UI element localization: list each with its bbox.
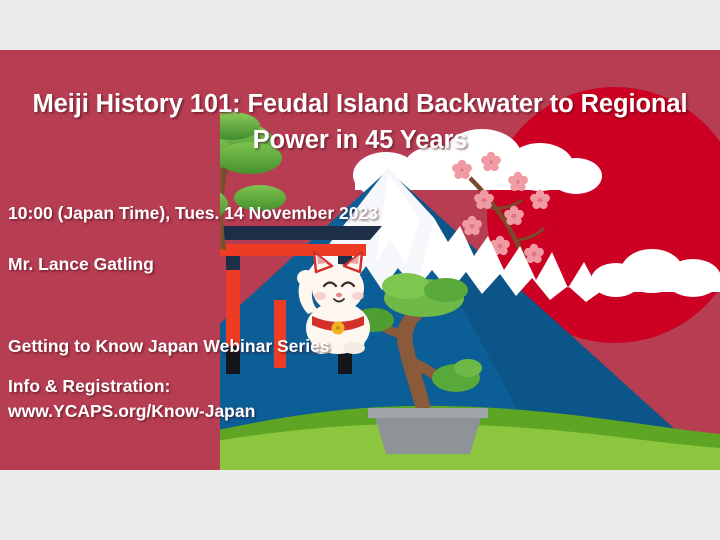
letterbox-top — [0, 0, 720, 50]
slide-canvas: Meiji History 101: Feudal Island Backwat… — [0, 0, 720, 540]
registration-url: www.YCAPS.org/Know-Japan — [8, 400, 255, 423]
speaker-name: Mr. Lance Gatling — [8, 253, 154, 276]
webinar-datetime: 10:00 (Japan Time), Tues. 14 November 20… — [8, 202, 378, 225]
slide-title: Meiji History 101: Feudal Island Backwat… — [30, 86, 690, 158]
webinar-series-name: Getting to Know Japan Webinar Series — [8, 335, 330, 358]
letterbox-bottom — [0, 470, 720, 540]
registration-label: Info & Registration: — [8, 375, 170, 398]
presentation-slide: Meiji History 101: Feudal Island Backwat… — [0, 50, 720, 470]
